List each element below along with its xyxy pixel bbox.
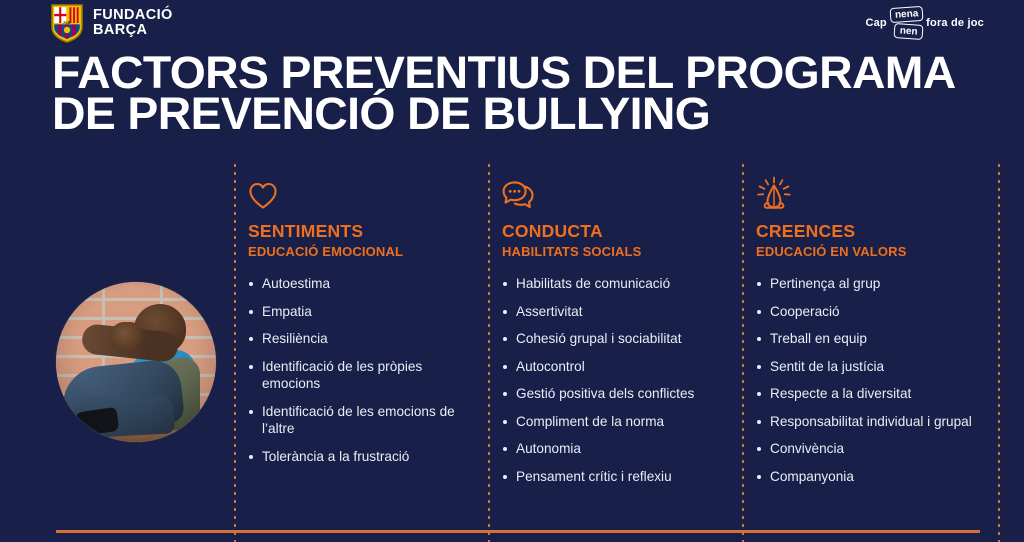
list-item: Autocontrol (502, 358, 724, 376)
fcb-crest-icon: FCB (50, 3, 84, 43)
list-item: Convivència (756, 440, 976, 458)
campaign-chip-nena: nena (889, 6, 923, 23)
list-item: Empatia (248, 303, 470, 321)
page-title-line-1: FACTORS PREVENTIUS DEL PROGRAMA (52, 52, 979, 93)
brand-line-1: FUNDACIÓ (93, 8, 173, 23)
column-title: CREENCES (756, 222, 976, 241)
page-title: FACTORS PREVENTIUS DEL PROGRAMA DE PREVE… (52, 52, 979, 134)
list-item: Resiliència (248, 330, 470, 348)
list-item: Habilitats de comunicació (502, 275, 724, 293)
heart-icon (248, 166, 470, 210)
list-item: Autonomia (502, 440, 724, 458)
praying-hands-icon (756, 166, 976, 210)
campaign-word-left: Cap (865, 17, 886, 29)
factors-columns: SENTIMENTS EDUCACIÓ EMOCIONAL Autoestima… (234, 166, 994, 514)
list-item: Pensament crític i reflexiu (502, 468, 724, 486)
brand-line-2: BARÇA (93, 23, 173, 38)
photo-vignette (56, 282, 216, 442)
page-title-line-2: DE PREVENCIÓ DE BULLYING (52, 93, 979, 134)
list-item: Respecte a la diversitat (756, 385, 976, 403)
column-item-list: Habilitats de comunicació Assertivitat C… (502, 275, 724, 485)
list-item: Gestió positiva dels conflictes (502, 385, 724, 403)
campaign-word-right: fora de joc (926, 17, 984, 29)
poster-canvas: FCB FUNDACIÓ BARÇA Cap nena nen fora de … (0, 0, 1024, 542)
list-item: Identificació de les pròpies emocions (248, 358, 470, 393)
fundacio-barca-logo: FCB FUNDACIÓ BARÇA (50, 3, 173, 43)
campaign-chip-stack: nena nen (890, 7, 923, 39)
list-item: Identificació de les emocions de l’altre (248, 403, 470, 438)
list-item: Cooperació (756, 303, 976, 321)
column-item-list: Pertinença al grup Cooperació Treball en… (756, 275, 976, 485)
list-item: Autoestima (248, 275, 470, 293)
column-subtitle: EDUCACIÓ EN VALORS (756, 244, 976, 259)
svg-text:FCB: FCB (64, 21, 72, 25)
poster-header: FCB FUNDACIÓ BARÇA Cap nena nen fora de … (0, 0, 1024, 46)
campaign-chip-nen: nen (893, 23, 923, 40)
photo-illustration (56, 282, 216, 442)
column-subtitle: EDUCACIÓ EMOCIONAL (248, 244, 470, 259)
list-item: Responsabilitat individual i grupal (756, 413, 976, 431)
bullying-photo (56, 282, 216, 442)
list-item: Compliment de la norma (502, 413, 724, 431)
brand-wordmark: FUNDACIÓ BARÇA (93, 8, 173, 38)
footer-divider (56, 530, 980, 533)
campaign-logo: Cap nena nen fora de joc (865, 7, 984, 39)
list-item: Tolerància a la frustració (248, 448, 470, 466)
list-item: Companyonia (756, 468, 976, 486)
column-title: SENTIMENTS (248, 222, 470, 241)
column-subtitle: HABILITATS SOCIALS (502, 244, 724, 259)
column-title: CONDUCTA (502, 222, 724, 241)
column-conducta: CONDUCTA HABILITATS SOCIALS Habilitats d… (488, 166, 742, 514)
list-item: Treball en equip (756, 330, 976, 348)
list-item: Sentit de la justícia (756, 358, 976, 376)
column-sentiments: SENTIMENTS EDUCACIÓ EMOCIONAL Autoestima… (234, 166, 488, 514)
list-item: Pertinença al grup (756, 275, 976, 293)
column-item-list: Autoestima Empatia Resiliència Identific… (248, 275, 470, 465)
list-item: Assertivitat (502, 303, 724, 321)
speech-bubbles-icon (502, 166, 724, 210)
list-item: Cohesió grupal i sociabilitat (502, 330, 724, 348)
column-creences: CREENCES EDUCACIÓ EN VALORS Pertinença a… (742, 166, 994, 514)
